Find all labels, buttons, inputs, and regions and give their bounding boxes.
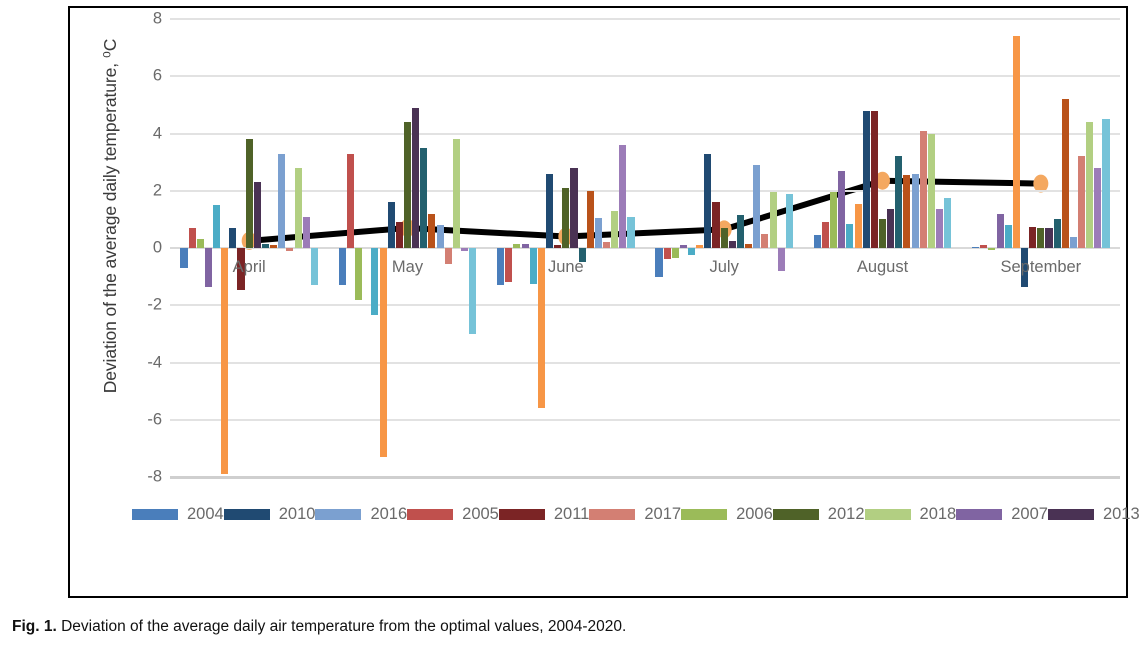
x-axis-label-may: May [392,258,423,277]
bar-2017-september [1078,156,1085,248]
bar-2007-august [838,171,845,248]
bar-2006-june [513,244,520,248]
legend-swatch-2006 [681,509,727,520]
bar-2017-may [445,248,452,264]
bar-2010-april [229,228,236,248]
bar-2011-july [712,202,719,248]
legend-label-2017: 2017 [644,505,681,524]
x-axis-label-june: June [548,258,584,277]
legend-item-2012[interactable]: 2012 [773,500,865,528]
bar-2008-september [1005,225,1012,248]
bar-2010-may [388,202,395,248]
bar-2019-april [303,217,310,248]
bar-2018-september [1086,122,1093,248]
legend-swatch-2010 [224,509,270,520]
legend-label-2004: 2004 [187,505,224,524]
bar-2007-july [680,245,687,248]
bar-2018-august [928,134,935,249]
legend-label-2018: 2018 [920,505,957,524]
bar-2017-august [920,131,927,248]
bar-2020-july [786,194,793,248]
bar-2012-july [721,228,728,248]
bar-2009-september [1013,36,1020,248]
bar-2017-june [603,242,610,248]
y-tick-4: 4 [102,124,162,143]
bar-2005-june [505,248,512,282]
bar-2010-july [704,154,711,248]
gridline-4 [170,133,1120,135]
legend-swatch-2017 [589,509,635,520]
bar-2016-july [753,165,760,248]
legend-item-2005[interactable]: 2005 [407,500,499,528]
x-axis-label-april: April [233,258,266,277]
bar-2014-july [737,215,744,248]
bar-2012-june [562,188,569,248]
bar-2014-september [1054,219,1061,248]
bar-2004-august [814,235,821,248]
bar-2008-june [530,248,537,284]
bar-2007-june [522,244,529,248]
bar-2018-april [295,168,302,248]
bar-2015-june [587,191,594,248]
gridline-neg8 [170,476,1120,479]
bar-2009-july [696,245,703,248]
bar-2013-september [1045,228,1052,248]
bar-2004-july [655,248,662,277]
bar-2004-june [497,248,504,285]
legend-item-2007[interactable]: 2007 [956,500,1048,528]
gridline-neg4 [170,362,1120,364]
bar-2019-may [461,248,468,251]
y-axis-tick-labels: 86420-2-4-6-8 [96,8,162,488]
figure-caption: Fig. 1. Deviation of the average daily a… [12,618,626,636]
legend-item-2006[interactable]: 2006 [681,500,773,528]
bar-2015-september [1062,99,1069,248]
bar-2006-august [830,192,837,248]
legend-swatch-2012 [773,509,819,520]
legend-item-2011[interactable]: 2011 [499,500,589,528]
y-tick-0: 0 [102,239,162,258]
bar-2006-september [988,248,995,250]
bar-2020-may [469,248,476,334]
legend-item-2017[interactable]: 2017 [589,500,681,528]
y-tick-6: 6 [102,67,162,86]
bar-2009-june [538,248,545,408]
bar-2018-july [770,192,777,248]
bar-2009-august [855,204,862,248]
y-tick-neg6: -6 [102,410,162,429]
legend-label-2011: 2011 [554,505,589,524]
legend-label-2007: 2007 [1011,505,1048,524]
bar-2006-may [355,248,362,300]
legend-swatch-2013 [1048,509,1094,520]
caption-label: Fig. 1. [12,618,57,635]
bar-2004-september [972,247,979,249]
bar-2011-september [1029,227,1036,248]
legend-swatch-2004 [132,509,178,520]
bar-2013-july [729,241,736,248]
bar-2005-may [347,154,354,248]
y-tick-8: 8 [102,10,162,29]
bar-2019-july [778,248,785,271]
legend-item-2010[interactable]: 2010 [224,500,316,528]
bar-2016-august [912,174,919,248]
bar-2015-april [270,245,277,248]
legend-item-2016[interactable]: 2016 [315,500,407,528]
bar-2012-september [1037,228,1044,248]
bar-2013-june [570,168,577,248]
legend-label-2006: 2006 [736,505,773,524]
bar-2016-june [595,218,602,248]
gridline-6 [170,75,1120,77]
bar-2007-april [205,248,212,287]
bar-2013-april [254,182,261,248]
bar-2011-may [396,222,403,248]
bar-2013-may [412,108,419,248]
bar-2009-april [221,248,228,474]
bar-2016-may [437,225,444,248]
legend-item-2018[interactable]: 2018 [865,500,957,528]
bar-2019-june [619,145,626,248]
legend-item-2013[interactable]: 2013 [1048,500,1139,528]
y-tick-neg2: -2 [102,296,162,315]
x-axis-label-august: August [857,258,908,277]
y-tick-2: 2 [102,181,162,200]
legend-swatch-2018 [865,509,911,520]
bar-2016-september [1070,237,1077,248]
gridline-8 [170,18,1120,20]
gridline-neg6 [170,419,1120,421]
bar-2013-august [887,209,894,248]
bar-2008-august [846,224,853,248]
bar-2018-june [611,211,618,248]
bar-2008-july [688,248,695,255]
bar-2005-july [664,248,671,259]
bar-2008-april [213,205,220,248]
x-axis-label-july: July [709,258,738,277]
bar-2008-may [371,248,378,315]
bar-2010-august [863,111,870,248]
legend-label-2016: 2016 [370,505,407,524]
bar-2009-may [380,248,387,457]
bar-2020-september [1102,119,1109,248]
bar-2006-april [197,239,204,248]
bar-2016-april [278,154,285,248]
bar-2010-june [546,174,553,248]
bar-2020-august [944,198,951,248]
bar-2012-april [246,139,253,248]
x-axis-label-september: September [1000,258,1081,277]
legend-swatch-2011 [499,509,545,520]
chart-legend: 2004201020162005201120172006201220182007… [132,500,1112,528]
plot-area: AprilMayJuneJulyAugustSeptember [170,8,1120,488]
bar-2020-june [627,217,634,248]
gridline-neg2 [170,304,1120,306]
bar-2014-august [895,156,902,248]
bar-2015-may [428,214,435,248]
bar-2019-september [1094,168,1101,248]
bar-2019-august [936,209,943,248]
bar-2005-august [822,222,829,248]
bar-2006-july [672,248,679,258]
bar-2020-april [311,248,318,285]
figure-frame: Deviation of the average daily temperatu… [68,6,1128,598]
legend-swatch-2007 [956,509,1002,520]
bar-2011-august [871,111,878,248]
bar-2014-april [262,244,269,248]
legend-swatch-2016 [315,509,361,520]
bar-2017-april [286,248,293,251]
bar-2012-may [404,122,411,248]
gridline-2 [170,190,1120,192]
legend-label-2012: 2012 [828,505,865,524]
legend-label-2013: 2013 [1103,505,1139,524]
bar-2017-july [761,234,768,248]
bar-2014-may [420,148,427,248]
caption-text: Deviation of the average daily air tempe… [57,618,627,635]
bar-2005-september [980,245,987,248]
y-tick-neg4: -4 [102,353,162,372]
bar-2015-august [903,175,910,248]
bar-2007-september [997,214,1004,248]
legend-label-2005: 2005 [462,505,499,524]
chart-plot-wrapper: Deviation of the average daily temperatu… [70,8,1130,488]
figure-page: Deviation of the average daily temperatu… [0,0,1139,656]
bar-2012-august [879,219,886,248]
bar-2004-may [339,248,346,285]
bar-2015-july [745,244,752,248]
y-tick-neg8: -8 [102,468,162,487]
legend-swatch-2005 [407,509,453,520]
bar-2005-april [189,228,196,248]
bar-2004-april [180,248,187,268]
bar-2018-may [453,139,460,248]
legend-item-2004[interactable]: 2004 [132,500,224,528]
legend-label-2010: 2010 [279,505,316,524]
bar-2011-june [554,245,561,248]
